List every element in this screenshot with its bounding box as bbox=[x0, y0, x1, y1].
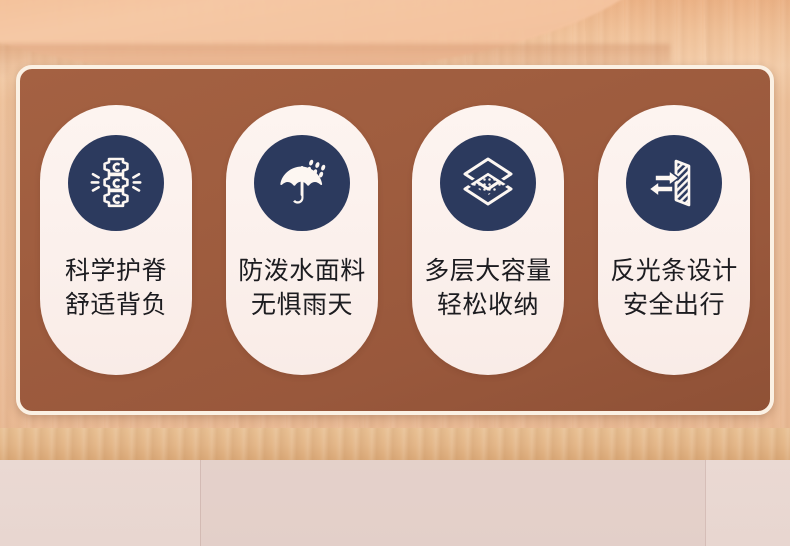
feature-card-waterproof[interactable]: 防泼水面料 无惧雨天 bbox=[226, 105, 378, 375]
feature-label-capacity: 多层大容量 轻松收纳 bbox=[424, 255, 552, 322]
umbrella-rain-icon bbox=[254, 135, 350, 231]
feature-label-line1: 科学护脊 bbox=[65, 255, 167, 289]
feature-card-reflective[interactable]: 反光条设计 安全出行 bbox=[598, 105, 750, 375]
background-lower-seam-right bbox=[705, 460, 706, 546]
feature-card-spine[interactable]: 科学护脊 舒适背负 bbox=[40, 105, 192, 375]
feature-label-line2: 安全出行 bbox=[610, 289, 738, 323]
feature-card-capacity[interactable]: 多层大容量 轻松收纳 bbox=[412, 105, 564, 375]
reflective-arrows-icon bbox=[626, 135, 722, 231]
feature-label-reflective: 反光条设计 安全出行 bbox=[610, 255, 738, 322]
feature-label-line2: 无惧雨天 bbox=[238, 289, 366, 323]
feature-label-spine: 科学护脊 舒适背负 bbox=[65, 255, 167, 322]
feature-label-line2: 轻松收纳 bbox=[424, 289, 552, 323]
background-lower-panel bbox=[200, 460, 705, 546]
layers-icon bbox=[440, 135, 536, 231]
feature-label-line2: 舒适背负 bbox=[65, 289, 167, 323]
feature-label-line1: 多层大容量 bbox=[424, 255, 552, 289]
feature-label-line1: 反光条设计 bbox=[610, 255, 738, 289]
feature-label-waterproof: 防泼水面料 无惧雨天 bbox=[238, 255, 366, 322]
feature-panel: 科学护脊 舒适背负 bbox=[16, 65, 774, 415]
feature-label-line1: 防泼水面料 bbox=[238, 255, 366, 289]
product-feature-banner: 科学护脊 舒适背负 bbox=[0, 0, 790, 546]
background-lower-seam-left bbox=[200, 460, 201, 546]
spine-icon bbox=[68, 135, 164, 231]
